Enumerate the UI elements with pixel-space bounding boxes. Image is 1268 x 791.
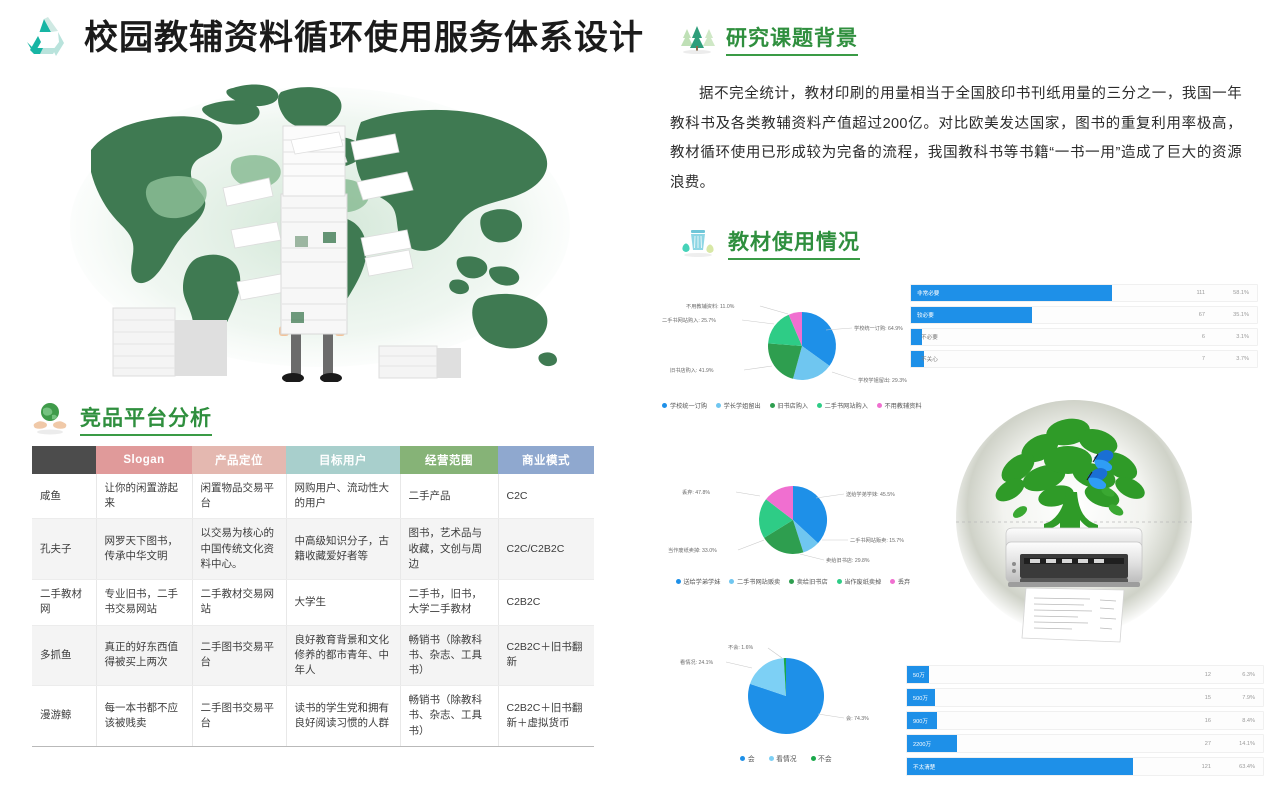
- bar-percent: 58.1%: [1233, 285, 1249, 301]
- pie-label: 丢弃: 47.8%: [682, 488, 710, 496]
- pie-label: 看情况: 24.1%: [680, 658, 714, 666]
- pie-legend-source: 学校统一订购 学长学姐留出 旧书店购入 二手书网站购入 不用教辅资料: [656, 401, 928, 410]
- bar-fill: [911, 285, 1112, 301]
- bar-row: 不关心 7 3.7%: [910, 350, 1258, 368]
- cell-positioning: 二手图书交易平台: [192, 625, 286, 686]
- competitor-table-wrapper: Slogan 产品定位 目标用户 经营范围 商业模式 咸鱼 让你的闲置游起来 闲…: [32, 446, 582, 747]
- legend-item: 看情况: [769, 753, 797, 763]
- bar-count: 6: [1202, 329, 1205, 345]
- bar-label: 2200万: [913, 735, 931, 752]
- cell-slogan: 真正的好东西值得被买上两次: [96, 625, 192, 686]
- pie-label: 旧书店购入: 41.9%: [670, 366, 714, 374]
- bar-label: 不必要: [921, 329, 938, 345]
- table-row: 咸鱼 让你的闲置游起来 闲置物品交易平台 网购用户、流动性大的用户 二手产品 C…: [32, 474, 594, 519]
- bar-count: 27: [1205, 735, 1211, 752]
- cell-model: C2C/C2B2C: [498, 519, 594, 580]
- legend-item: 二手书网站贩卖: [729, 577, 780, 586]
- table-row: 漫游鲸 每一本书都不应该被贱卖 二手图书交易平台 读书的学生党和拥有良好阅读习惯…: [32, 686, 594, 747]
- bar-fill: [907, 758, 1133, 775]
- pie-label: 学校学姐留出: 29.3%: [858, 376, 907, 384]
- cell-slogan: 专业旧书，二手书交易网站: [96, 580, 192, 625]
- bar-percent: 63.4%: [1239, 758, 1255, 775]
- bar-count: 67: [1199, 307, 1205, 323]
- cell-positioning: 二手教材交易网站: [192, 580, 286, 625]
- legend-item: 不用教辅资料: [877, 401, 922, 410]
- legend-item: 二手书网站购入: [817, 401, 868, 410]
- cell-name: 漫游鲸: [32, 686, 96, 747]
- bar-chart-volume: 50万 12 6.3% 500万 15 7.9% 900万 16 8.4% 22…: [906, 665, 1264, 780]
- cell-name: 多抓鱼: [32, 625, 96, 686]
- bar-count: 7: [1202, 351, 1205, 367]
- page-title: 校园教辅资料循环使用服务体系设计: [84, 21, 644, 55]
- pie-label: 学校统一订购: 64.9%: [854, 324, 903, 332]
- cell-users: 读书的学生党和拥有良好阅读习惯的人群: [286, 686, 400, 747]
- section-title-usage: 教材使用情况: [728, 231, 860, 254]
- recycle-icon: [18, 12, 70, 64]
- cell-name: 二手教材网: [32, 580, 96, 625]
- trees-icon: [676, 18, 716, 58]
- bar-label: 900万: [913, 712, 928, 729]
- section-underline: [80, 434, 212, 436]
- cell-positioning: 二手图书交易平台: [192, 686, 286, 747]
- pie-label: 二手书网站贩卖: 15.7%: [850, 536, 904, 544]
- bar-label: 非常必要: [917, 285, 939, 301]
- bar-percent: 35.1%: [1233, 307, 1249, 323]
- cell-positioning: 闲置物品交易平台: [192, 474, 286, 519]
- table-row: 多抓鱼 真正的好东西值得被买上两次 二手图书交易平台 良好教育背景和文化修养的都…: [32, 625, 594, 686]
- pie-legend-disposal: 送给学弟学妹 二手书网站贩卖 卖给旧书店 当作废纸卖掉 丢弃: [648, 577, 938, 586]
- bar-percent: 3.1%: [1236, 329, 1249, 345]
- bar-label: 50万: [913, 666, 925, 683]
- title-row: 校园教辅资料循环使用服务体系设计: [18, 12, 644, 64]
- bar-row: 不太清楚 121 63.4%: [906, 757, 1264, 776]
- background-paragraph: 据不完全统计，教材印刷的用量相当于全国胶印书刊纸用量的三分之一，我国一年教科书及…: [670, 80, 1242, 199]
- bar-row: 2200万 27 14.1%: [906, 734, 1264, 753]
- pie-chart-willingness: 会: 74.3% 看情况: 24.1% 不会: 1.6% 会 看情况 不会: [656, 640, 916, 763]
- table-header-positioning: 产品定位: [192, 446, 286, 474]
- legend-item: 丢弃: [890, 577, 910, 586]
- pie-label: 不用教辅资料: 11.0%: [686, 302, 735, 310]
- cell-scope: 图书，艺术品与收藏，文创与周边: [400, 519, 498, 580]
- bar-row: 500万 15 7.9%: [906, 688, 1264, 707]
- table-header-slogan: Slogan: [96, 446, 192, 474]
- bar-label: 较必要: [917, 307, 934, 323]
- bar-row: 不必要 6 3.1%: [910, 328, 1258, 346]
- pie-label: 不会: 1.6%: [728, 643, 753, 651]
- bar-count: 12: [1205, 666, 1211, 683]
- cell-users: 网购用户、流动性大的用户: [286, 474, 400, 519]
- section-heading-background: 研究课题背景: [676, 18, 858, 58]
- cell-name: 孔夫子: [32, 519, 96, 580]
- table-row: 孔夫子 网罗天下图书，传承中华文明 以交易为核心的中国传统文化资料中心。 中高级…: [32, 519, 594, 580]
- pie-label: 当作废纸卖掉: 33.0%: [668, 546, 717, 554]
- legend-item: 卖给旧书店: [789, 577, 827, 586]
- cell-name: 咸鱼: [32, 474, 96, 519]
- pie-chart-disposal: 送给学弟学妹: 45.5% 二手书网站贩卖: 15.7% 卖给旧书店: 29.8…: [648, 468, 938, 586]
- legend-item: 旧书店购入: [770, 401, 808, 410]
- world-map-paper-illustration: [55, 62, 585, 382]
- pie-legend-willingness: 会 看情况 不会: [656, 753, 916, 763]
- cell-slogan: 让你的闲置游起来: [96, 474, 192, 519]
- table-header-model: 商业模式: [498, 446, 594, 474]
- bar-count: 121: [1202, 758, 1211, 775]
- table-header-scope: 经营范围: [400, 446, 498, 474]
- bar-count: 111: [1196, 285, 1205, 301]
- table-row: 二手教材网 专业旧书，二手书交易网站 二手教材交易网站 大学生 二手书，旧书，大…: [32, 580, 594, 625]
- bar-percent: 14.1%: [1239, 735, 1255, 752]
- pie-chart-source: 学校统一订购: 64.9% 学校学姐留出: 29.3% 旧书店购入: 41.9%…: [656, 290, 928, 410]
- pie-label: 卖给旧书店: 29.8%: [826, 556, 870, 564]
- legend-item: 会: [740, 753, 754, 763]
- table-header-row: Slogan 产品定位 目标用户 经营范围 商业模式: [32, 446, 594, 474]
- tree-printer-illustration: [948, 392, 1200, 644]
- bar-count: 15: [1205, 689, 1211, 706]
- pie-label: 二手书网站购入: 25.7%: [662, 316, 716, 324]
- recycle-bin-icon: [678, 222, 718, 262]
- bar-chart-awareness: 非常必要 111 58.1% 较必要 67 35.1% 不必要 6 3.1% 不…: [910, 284, 1258, 372]
- legend-item: 不会: [811, 753, 832, 763]
- right-column: 研究课题背景 据不完全统计，教材印刷的用量相当于全国胶印书刊纸用量的三分之一，我…: [648, 0, 1268, 791]
- bar-count: 16: [1205, 712, 1211, 729]
- bar-row: 较必要 67 35.1%: [910, 306, 1258, 324]
- globe-in-hands-icon: [30, 398, 70, 438]
- bar-row: 900万 16 8.4%: [906, 711, 1264, 730]
- left-column: 校园教辅资料循环使用服务体系设计: [0, 0, 640, 791]
- bar-label: 不关心: [921, 351, 938, 367]
- cell-slogan: 网罗天下图书，传承中华文明: [96, 519, 192, 580]
- bar-percent: 3.7%: [1236, 351, 1249, 367]
- section-underline: [728, 258, 860, 260]
- section-heading-competitor: 竞品平台分析: [30, 398, 212, 438]
- cell-users: 中高级知识分子，古籍收藏爱好者等: [286, 519, 400, 580]
- bar-percent: 6.3%: [1242, 666, 1255, 683]
- legend-item: 送给学弟学妹: [676, 577, 721, 586]
- table-header-users: 目标用户: [286, 446, 400, 474]
- cell-slogan: 每一本书都不应该被贱卖: [96, 686, 192, 747]
- bar-percent: 8.4%: [1242, 712, 1255, 729]
- slide-canvas: 校园教辅资料循环使用服务体系设计: [0, 0, 1268, 791]
- bar-label: 500万: [913, 689, 928, 706]
- table-header-blank: [32, 446, 96, 474]
- bar-percent: 7.9%: [1242, 689, 1255, 706]
- cell-scope: 二手书，旧书，大学二手教材: [400, 580, 498, 625]
- pie-label: 送给学弟学妹: 45.5%: [846, 490, 895, 498]
- section-title-competitor: 竞品平台分析: [80, 407, 212, 430]
- cell-scope: 畅销书（除教科书、杂志、工具书）: [400, 625, 498, 686]
- bar-row: 50万 12 6.3%: [906, 665, 1264, 684]
- cell-scope: 二手产品: [400, 474, 498, 519]
- pie-label: 会: 74.3%: [846, 714, 869, 722]
- bar-label: 不太清楚: [913, 758, 935, 775]
- cell-users: 良好教育背景和文化修养的都市青年、中年人: [286, 625, 400, 686]
- section-title-background: 研究课题背景: [726, 27, 858, 50]
- cell-model: C2B2C＋旧书翻新＋虚拟货币: [498, 686, 594, 747]
- cell-model: C2B2C＋旧书翻新: [498, 625, 594, 686]
- legend-item: 学长学姐留出: [716, 401, 761, 410]
- bar-row: 非常必要 111 58.1%: [910, 284, 1258, 302]
- cell-users: 大学生: [286, 580, 400, 625]
- legend-item: 学校统一订购: [662, 401, 707, 410]
- cell-model: C2C: [498, 474, 594, 519]
- cell-positioning: 以交易为核心的中国传统文化资料中心。: [192, 519, 286, 580]
- competitor-table: Slogan 产品定位 目标用户 经营范围 商业模式 咸鱼 让你的闲置游起来 闲…: [32, 446, 594, 747]
- cell-model: C2B2C: [498, 580, 594, 625]
- cell-scope: 畅销书（除教科书、杂志、工具书）: [400, 686, 498, 747]
- legend-item: 当作废纸卖掉: [837, 577, 882, 586]
- section-underline: [726, 54, 858, 56]
- section-heading-usage: 教材使用情况: [678, 222, 860, 262]
